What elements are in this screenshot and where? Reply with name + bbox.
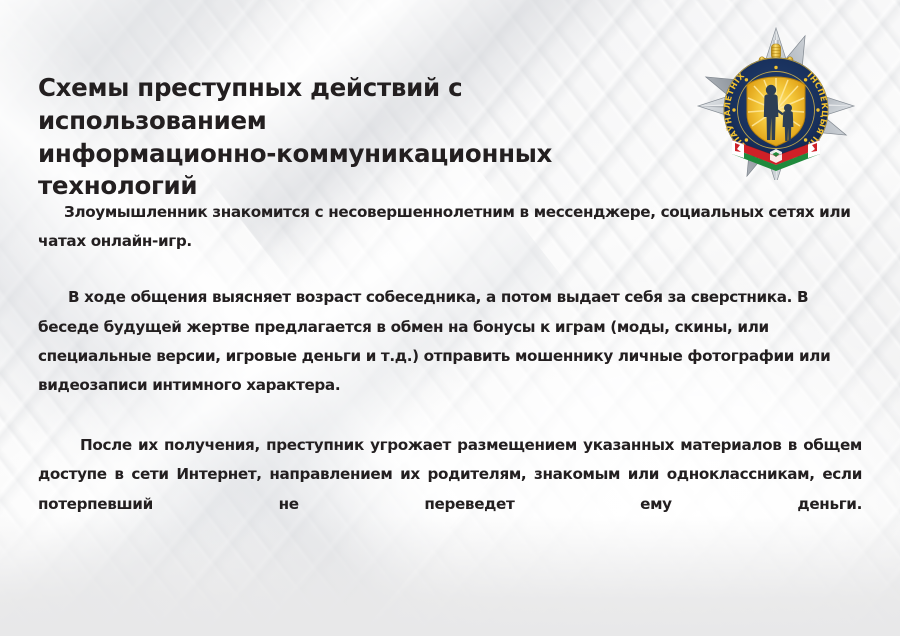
presentation-slide: Схемы преступных действий с использовани… xyxy=(0,0,900,636)
slide-title: Схемы преступных действий с использовани… xyxy=(38,72,698,203)
slide-body: Злоумышленник знакомится с несовершеннол… xyxy=(38,198,862,574)
paragraph-2: В ходе общения выясняет возраст собеседн… xyxy=(38,283,862,400)
paragraph-1: Злоумышленник знакомится с несовершеннол… xyxy=(38,198,862,256)
emblem-badge: ІНСПЕКЦЫЯ ПА СПРАВАХ НЕПАЎНАЛЕТНІХ xyxy=(692,22,860,180)
paragraph-3: После их получения, преступник угрожает … xyxy=(38,431,862,548)
slide-content: Схемы преступных действий с использовани… xyxy=(0,0,900,636)
